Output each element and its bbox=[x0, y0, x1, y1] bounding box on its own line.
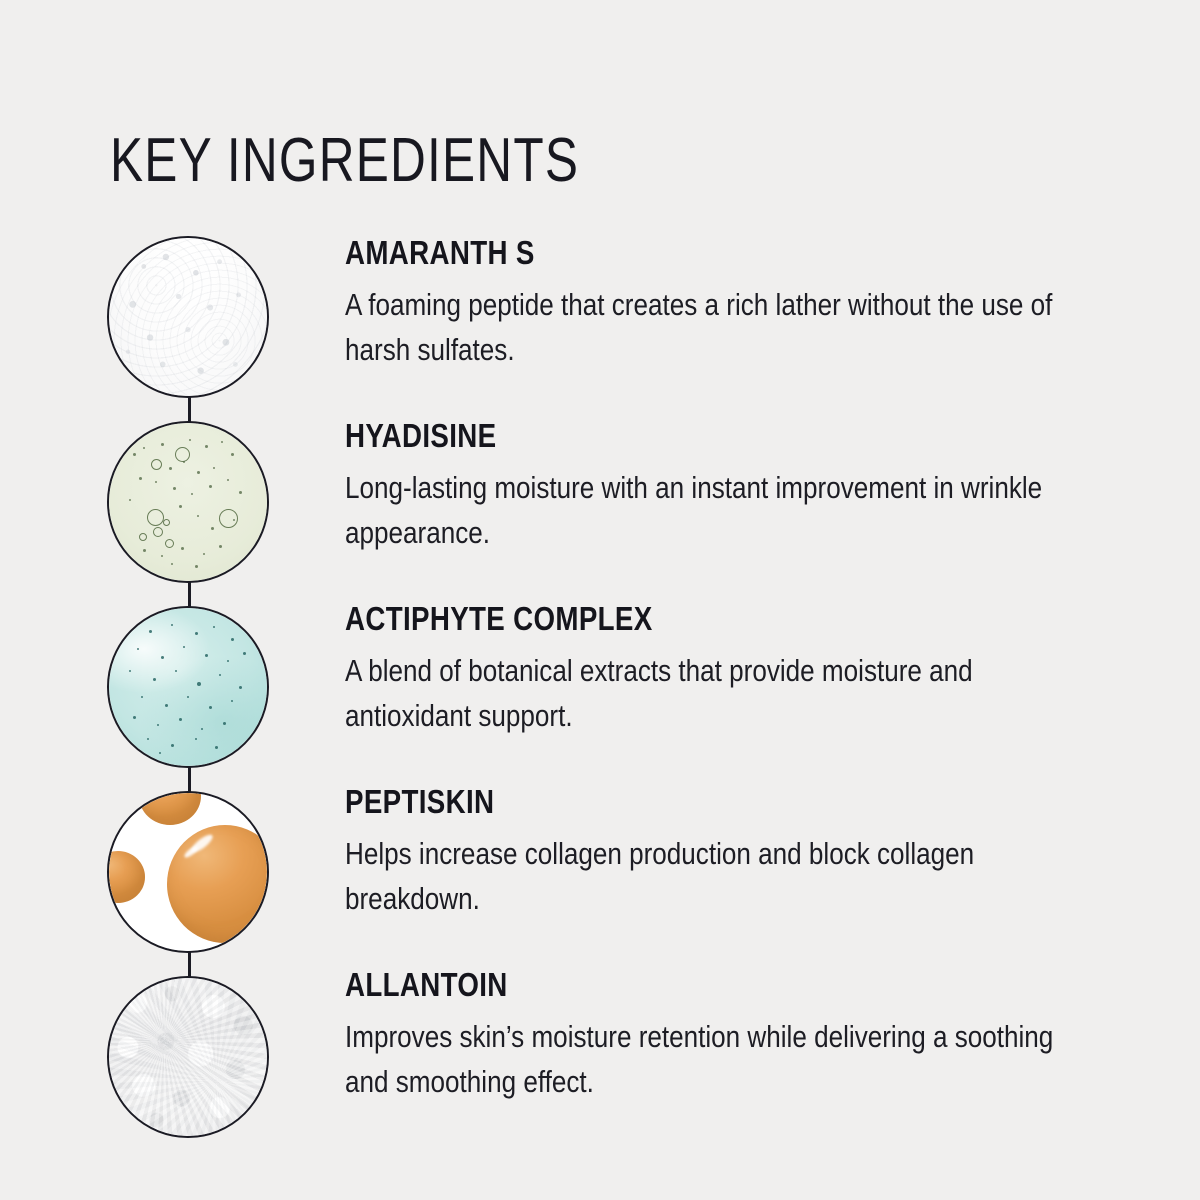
connector-line-1 bbox=[188, 397, 191, 423]
white-powder-swatch bbox=[107, 976, 269, 1138]
ingredient-description: Helps increase collagen production and b… bbox=[345, 832, 1097, 922]
white-foam-swatch bbox=[107, 236, 269, 398]
ingredient-description: Long-lasting moisture with an instant im… bbox=[345, 466, 1097, 556]
ingredient-item: HYADISINE Long-lasting moisture with an … bbox=[345, 419, 1105, 556]
swatch-rail bbox=[107, 236, 273, 1128]
ingredient-name: AMARANTH S bbox=[345, 236, 983, 271]
connector-line-4 bbox=[188, 952, 191, 978]
connector-line-3 bbox=[188, 767, 191, 793]
green-gel-swatch bbox=[107, 421, 269, 583]
ingredient-name: PEPTISKIN bbox=[345, 785, 983, 820]
ingredient-item: ALLANTOIN Improves skin’s moisture reten… bbox=[345, 968, 1105, 1105]
ingredient-item: PEPTISKIN Helps increase collagen produc… bbox=[345, 785, 1105, 922]
page-title: KEY INGREDIENTS bbox=[110, 130, 579, 192]
ingredient-item: AMARANTH S A foaming peptide that create… bbox=[345, 236, 1105, 373]
connector-line-2 bbox=[188, 582, 191, 608]
teal-gel-swatch bbox=[107, 606, 269, 768]
orange-droplet-swatch bbox=[107, 791, 269, 953]
ingredient-description: Improves skin’s moisture retention while… bbox=[345, 1015, 1097, 1105]
orange-droplet-texture bbox=[109, 793, 267, 951]
ingredient-name: ALLANTOIN bbox=[345, 968, 983, 1003]
ingredient-description: A blend of botanical extracts that provi… bbox=[345, 649, 1097, 739]
ingredient-description: A foaming peptide that creates a rich la… bbox=[345, 283, 1097, 373]
ingredient-item: ACTIPHYTE COMPLEX A blend of botanical e… bbox=[345, 602, 1105, 739]
teal-gel-texture bbox=[109, 608, 267, 766]
ingredients-infographic: KEY INGREDIENTS bbox=[0, 0, 1200, 1200]
ingredient-name: HYADISINE bbox=[345, 419, 983, 454]
powder-texture bbox=[109, 978, 267, 1136]
ingredient-name: ACTIPHYTE COMPLEX bbox=[345, 602, 983, 637]
green-gel-texture bbox=[109, 423, 267, 581]
foam-texture bbox=[109, 238, 267, 396]
